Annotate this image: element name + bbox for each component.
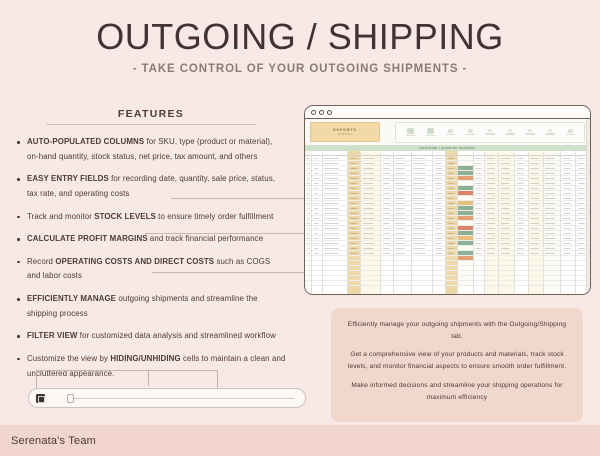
feature-text-pre: Track and monitor xyxy=(27,212,94,221)
connector-line-3 xyxy=(152,272,311,273)
features-divider xyxy=(46,124,256,125)
description-paragraph: Make informed decisions and streamline y… xyxy=(347,380,567,403)
description-card: Efficiently manage your outgoing shipmen… xyxy=(331,308,583,422)
sheet-cell[interactable] xyxy=(412,281,433,286)
sheet-column[interactable] xyxy=(394,151,412,294)
copy-icon-glyph xyxy=(427,128,434,134)
sheet-status-toolbar[interactable] xyxy=(28,388,306,408)
columns-icon-label xyxy=(506,133,515,134)
sheet-cell[interactable] xyxy=(433,281,445,286)
page-footer: Serenata's Team xyxy=(0,425,600,456)
sheet-column[interactable] xyxy=(529,151,544,294)
feature-item: FILTER VIEW for customized data analysis… xyxy=(16,329,286,344)
feature-text-strong: AUTO-POPULATED COLUMNS xyxy=(27,137,144,146)
sheet-column[interactable] xyxy=(485,151,499,294)
sort-icon[interactable] xyxy=(486,129,495,134)
feature-text-rest: and track financial performance xyxy=(148,234,263,243)
sheet-cell[interactable] xyxy=(529,281,543,286)
close-dot-icon[interactable] xyxy=(311,110,316,115)
sheet-column[interactable] xyxy=(499,151,515,294)
sheet-grid[interactable] xyxy=(305,151,590,294)
refresh-icon[interactable] xyxy=(566,129,575,135)
copy-icon[interactable] xyxy=(426,128,435,136)
sheet-section-label: OUTGOING / SHIPPING RECORDS xyxy=(420,147,476,150)
sheet-cell[interactable] xyxy=(474,281,485,286)
freeze-icon-label xyxy=(546,133,555,134)
sheet-vertical-scrollbar[interactable] xyxy=(586,119,590,294)
group-icon-label xyxy=(526,133,535,134)
feature-text-strong: EASY ENTRY FIELDS xyxy=(27,174,109,183)
sheet-column[interactable] xyxy=(412,151,434,294)
columns-icon[interactable] xyxy=(506,129,515,134)
sheet-column[interactable] xyxy=(446,151,458,294)
ribbon-button-group[interactable] xyxy=(395,122,585,143)
exports-sublabel: SHIPPING xyxy=(338,133,353,136)
sheet-cell[interactable] xyxy=(305,281,311,286)
feature-text-pre: Record xyxy=(27,257,55,266)
format-icon-label xyxy=(446,134,455,135)
paste-icon[interactable] xyxy=(406,128,415,136)
sheet-cell[interactable] xyxy=(348,281,360,286)
sheet-cell[interactable] xyxy=(394,281,411,286)
minimize-dot-icon[interactable] xyxy=(319,110,324,115)
page-subtitle: - TAKE CONTROL OF YOUR OUTGOING SHIPMENT… xyxy=(0,63,600,75)
group-icon-glyph xyxy=(528,129,532,132)
sheet-column[interactable] xyxy=(515,151,529,294)
window-titlebar xyxy=(305,106,590,119)
sheet-cell[interactable] xyxy=(485,281,498,286)
features-list: AUTO-POPULATED COLUMNS for SKU, type (pr… xyxy=(16,135,286,381)
refresh-icon-glyph xyxy=(568,129,573,133)
sheet-column[interactable] xyxy=(561,151,576,294)
freeze-icon[interactable] xyxy=(546,129,555,134)
description-paragraph: Efficiently manage your outgoing shipmen… xyxy=(347,319,567,342)
zoom-slider[interactable] xyxy=(67,398,294,399)
sheet-column[interactable] xyxy=(312,151,323,294)
copy-icon-label xyxy=(426,135,435,136)
feature-item: EFFICIENTLY MANAGE outgoing shipments an… xyxy=(16,292,286,321)
feature-item: Track and monitor STOCK LEVELS to ensure… xyxy=(16,210,286,225)
filter-icon-label xyxy=(466,134,475,135)
sheet-cell[interactable] xyxy=(312,281,322,286)
freeze-icon-glyph xyxy=(548,129,552,132)
format-icon-glyph xyxy=(448,129,453,133)
feature-text-strong: HIDING/UNHIDING xyxy=(110,354,180,363)
sort-icon-label xyxy=(486,133,495,134)
sheet-cell[interactable] xyxy=(544,281,561,286)
feature-text-rest: for customized data analysis and streaml… xyxy=(78,331,276,340)
sheet-status-cell[interactable] xyxy=(458,281,473,286)
page-title: OUTGOING / SHIPPING xyxy=(0,18,600,56)
paste-icon-glyph xyxy=(407,128,414,134)
sort-icon-glyph xyxy=(488,129,492,132)
sheet-cell[interactable] xyxy=(561,281,575,286)
page-header: OUTGOING / SHIPPING - TAKE CONTROL OF YO… xyxy=(0,0,600,75)
exports-label: EXPORTS xyxy=(333,128,356,132)
sheet-ribbon[interactable]: EXPORTS SHIPPING xyxy=(305,119,590,145)
spreadsheet-preview-window[interactable]: EXPORTS SHIPPING OUTGOING / SHIPPING REC… xyxy=(304,105,591,295)
connector-bracket-stub xyxy=(148,370,149,386)
feature-text-strong: OPERATING COSTS AND DIRECT COSTS xyxy=(55,257,214,266)
feature-text-strong: CALCULATE PROFIT MARGINS xyxy=(27,234,148,243)
sheet-cell[interactable] xyxy=(381,281,393,286)
footer-brand: Serenata's Team xyxy=(11,435,96,447)
feature-text-strong: STOCK LEVELS xyxy=(94,212,156,221)
sheet-cell[interactable] xyxy=(361,281,380,286)
group-icon[interactable] xyxy=(526,129,535,134)
sheet-column[interactable] xyxy=(544,151,562,294)
refresh-icon-label xyxy=(566,134,575,135)
sheet-column[interactable] xyxy=(381,151,394,294)
description-paragraph: Get a comprehensive view of your product… xyxy=(347,349,567,372)
connector-line-1 xyxy=(171,198,311,199)
connector-line-2 xyxy=(145,233,311,234)
format-icon[interactable] xyxy=(446,129,455,135)
features-heading: FEATURES xyxy=(16,108,286,124)
filter-icon[interactable] xyxy=(466,129,475,135)
sheet-column[interactable] xyxy=(323,151,349,294)
sheet-cell[interactable] xyxy=(323,281,348,286)
exports-badge[interactable]: EXPORTS SHIPPING xyxy=(310,122,380,142)
paste-icon-label xyxy=(406,135,415,136)
columns-icon-glyph xyxy=(508,129,512,132)
sheet-column[interactable] xyxy=(361,151,381,294)
feature-item: AUTO-POPULATED COLUMNS for SKU, type (pr… xyxy=(16,135,286,164)
feature-text-rest: to ensure timely order fulfillment xyxy=(156,212,274,221)
sheet-column[interactable] xyxy=(458,151,474,294)
sheet-cell[interactable] xyxy=(515,281,528,286)
feature-item: Record OPERATING COSTS AND DIRECT COSTS … xyxy=(16,255,286,284)
maximize-dot-icon[interactable] xyxy=(327,110,332,115)
feature-text-strong: FILTER VIEW xyxy=(27,331,78,340)
filter-icon-glyph xyxy=(468,129,473,133)
sheet-cell[interactable] xyxy=(499,281,514,286)
feature-text-pre: Customize the view by xyxy=(27,354,110,363)
sheet-column[interactable] xyxy=(474,151,486,294)
zoom-slider-knob[interactable] xyxy=(67,394,74,403)
feature-text-strong: EFFICIENTLY MANAGE xyxy=(27,294,116,303)
spreadsheet-icon[interactable] xyxy=(36,394,45,403)
sheet-column[interactable] xyxy=(348,151,361,294)
sheet-column[interactable] xyxy=(433,151,446,294)
sheet-cell[interactable] xyxy=(446,281,457,286)
sheet-column[interactable] xyxy=(305,151,312,294)
features-panel: FEATURES AUTO-POPULATED COLUMNS for SKU,… xyxy=(0,108,300,389)
feature-item: CALCULATE PROFIT MARGINS and track finan… xyxy=(16,232,286,247)
